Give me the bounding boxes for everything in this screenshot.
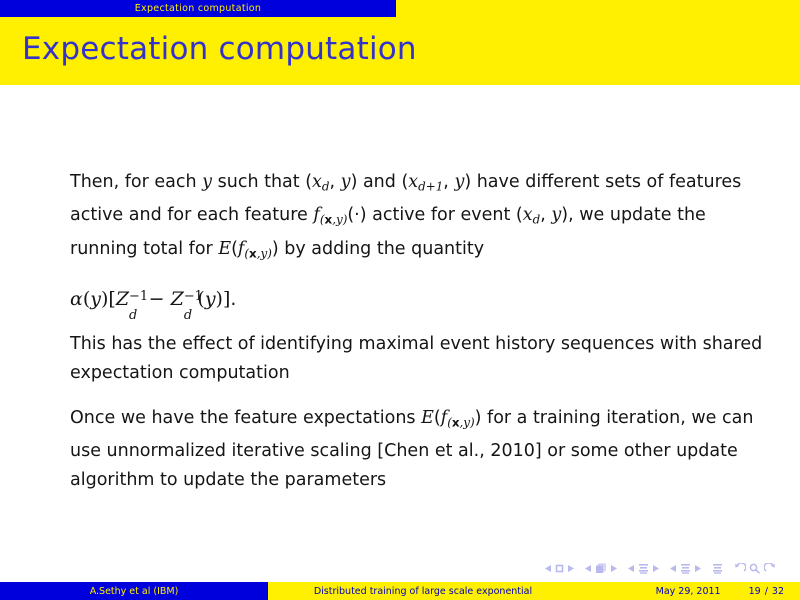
p3-seg2: ( <box>434 408 441 428</box>
navbar-section-label: Expectation computation <box>135 3 261 14</box>
p1-seg4: ) and ( <box>351 172 409 192</box>
p1-f1-sub: (x,y) <box>320 213 347 227</box>
p1-seg10: ( <box>231 239 238 259</box>
p3-f1-sub-x: x <box>452 415 460 429</box>
p1-f2-sub-x: x <box>249 246 257 260</box>
slide-navigation-group[interactable] <box>545 564 574 573</box>
p1-var-y1: y <box>202 172 212 192</box>
formula-Z2: Z <box>171 288 184 310</box>
navigation-symbols <box>545 563 776 574</box>
formula-Z1-sup: −1 <box>129 291 148 304</box>
frame-navigation-group[interactable] <box>585 563 617 574</box>
title-band: Expectation computation <box>0 17 800 85</box>
paragraph-iterative-scaling: Once we have the feature expectations E(… <box>70 404 770 495</box>
p1-f1-sub-y: y <box>336 213 343 227</box>
triangle-right-icon[interactable] <box>610 564 617 573</box>
redo-arrow-icon[interactable] <box>764 563 776 574</box>
formula-minus: − <box>149 288 165 310</box>
footer-page-indicator: 19 / 32 <box>749 586 784 597</box>
cube-icon[interactable] <box>595 563 607 574</box>
triangle-left-icon[interactable] <box>545 564 552 573</box>
triangle-right-icon[interactable] <box>652 564 659 573</box>
footer-page-total: 32 <box>772 586 784 597</box>
history-navigation-group[interactable] <box>734 563 776 574</box>
slide-root: Expectation computation Expectation comp… <box>0 0 800 600</box>
formula-Z1: Z <box>116 288 129 310</box>
p1-xd1-sub: d <box>322 179 330 193</box>
footer-meta: May 29, 2011 19 / 32 <box>578 582 800 600</box>
p3-f1-sub-y: y <box>463 415 470 429</box>
formula-y2: y <box>205 288 216 310</box>
p1-xd2: x <box>408 172 418 192</box>
footer-author-label: A.Sethy et al (IBM) <box>90 586 179 597</box>
p1-xd1: x <box>312 172 322 192</box>
p1-xd3: x <box>523 205 533 225</box>
lines-icon[interactable] <box>680 563 691 574</box>
subsection-navigation-group[interactable] <box>628 563 659 574</box>
footer-author[interactable]: A.Sethy et al (IBM) <box>0 582 268 600</box>
undo-arrow-icon[interactable] <box>734 563 746 574</box>
p1-var-y3: y <box>454 172 464 192</box>
p1-seg5: , <box>443 172 454 192</box>
triangle-right-icon[interactable] <box>694 564 701 573</box>
triangle-right-icon[interactable] <box>567 564 574 573</box>
p3-E1: E <box>421 408 434 428</box>
p1-seg8: , <box>540 205 551 225</box>
navigation-bar: Expectation computation <box>0 0 800 17</box>
p1-f2-sub: (x,y) <box>244 246 271 260</box>
lines-icon[interactable] <box>638 563 649 574</box>
navbar-section-tab[interactable]: Expectation computation <box>0 0 396 17</box>
triangle-left-icon[interactable] <box>628 564 635 573</box>
p3-f1-sub: (x,y) <box>447 415 474 429</box>
footer-page-current: 19 <box>749 586 761 597</box>
triangle-left-icon[interactable] <box>670 564 677 573</box>
footer-date: May 29, 2011 <box>656 586 721 597</box>
footer-short-title[interactable]: Distributed training of large scale expo… <box>268 582 578 600</box>
paragraph-shared-expectation: This has the effect of identifying maxim… <box>70 330 770 388</box>
formula-period: . <box>230 288 236 310</box>
p1-E1: E <box>218 239 231 259</box>
formula-close2: ) <box>216 288 223 310</box>
p1-seg3: , <box>330 172 341 192</box>
slide-body: Then, for each y such that (xd, y) and (… <box>70 168 770 495</box>
formula-Z2-sup: −1 <box>184 291 203 304</box>
p1-var-y2: y <box>341 172 351 192</box>
search-icon[interactable] <box>749 563 761 574</box>
square-icon[interactable] <box>555 564 564 573</box>
formula-Z2-sub: d <box>184 310 192 323</box>
formula-bracket-open: [ <box>108 288 115 310</box>
triangle-left-icon[interactable] <box>585 564 592 573</box>
p1-var-y4: y <box>551 205 561 225</box>
p1-seg1: Then, for each <box>70 172 202 192</box>
section-navigation-group[interactable] <box>670 563 701 574</box>
p1-seg7: (·) active for event ( <box>347 205 522 225</box>
p1-seg11: ) by adding the quantity <box>272 239 484 259</box>
p1-seg2: such that ( <box>212 172 312 192</box>
page-title: Expectation computation <box>22 31 417 67</box>
footer-bar: A.Sethy et al (IBM) Distributed training… <box>0 582 800 600</box>
paragraph-expectation-update: Then, for each y such that (xd, y) and (… <box>70 168 770 268</box>
formula-Z1-sub: d <box>129 310 137 323</box>
document-lines-icon[interactable] <box>712 563 723 574</box>
formula-alpha: α <box>70 288 83 310</box>
p3-seg1: Once we have the feature expectations <box>70 408 421 428</box>
formula-alpha-z-inverse: α(y)[Z−1d − Z−1d(y)]. <box>70 284 770 314</box>
footer-short-title-label: Distributed training of large scale expo… <box>314 586 532 597</box>
formula-y1: y <box>90 288 101 310</box>
footer-page-separator: / <box>765 586 768 597</box>
p1-xd2-sub: d+1 <box>418 179 443 193</box>
